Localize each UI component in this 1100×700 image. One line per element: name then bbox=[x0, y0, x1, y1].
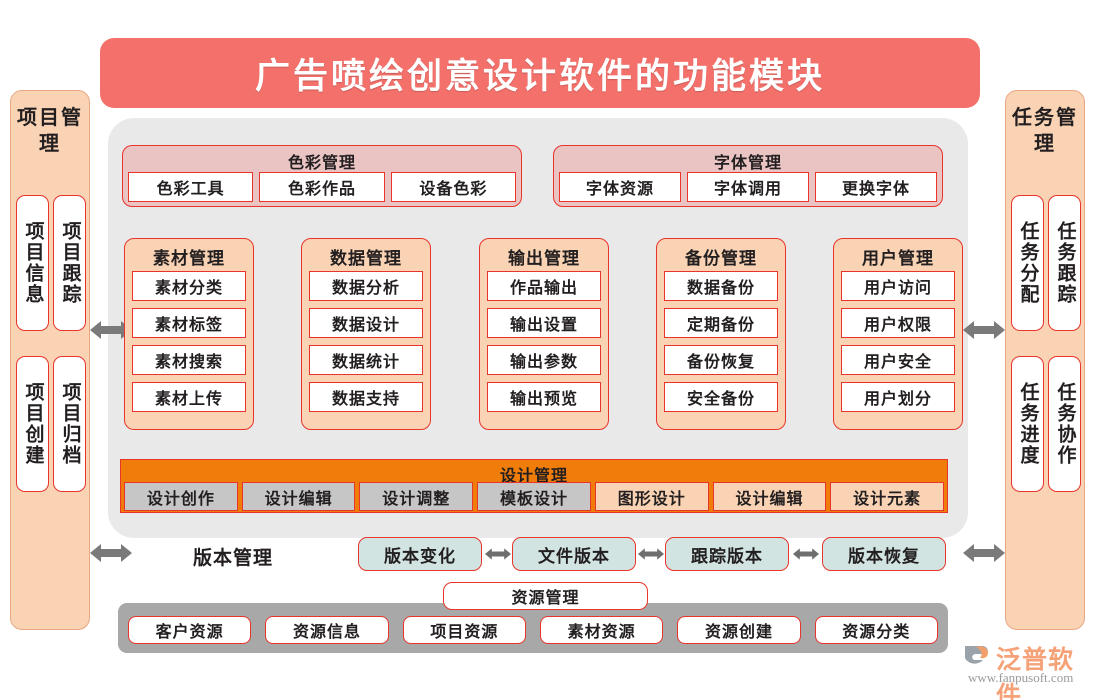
module-output-management: 输出管理 作品输出 输出设置 输出参数 输出预览 bbox=[479, 238, 609, 430]
panel-color-management: 色彩管理 色彩工具 色彩作品 设备色彩 bbox=[122, 145, 522, 207]
arrow-version-2-icon bbox=[638, 544, 664, 564]
item-material-tag[interactable]: 素材标签 bbox=[132, 308, 246, 338]
item-device-color[interactable]: 设备色彩 bbox=[391, 172, 516, 202]
panel-font-management-items: 字体资源 字体调用 更换字体 bbox=[559, 172, 937, 202]
module-material-management: 素材管理 素材分类 素材标签 素材搜索 素材上传 bbox=[124, 238, 254, 430]
panel-font-management-title: 字体管理 bbox=[554, 149, 942, 173]
resource-management-title: 资源管理 bbox=[443, 582, 648, 610]
item-user-security[interactable]: 用户安全 bbox=[841, 345, 955, 375]
item-data-analysis[interactable]: 数据分析 bbox=[309, 271, 423, 301]
sidebar-item-project-create[interactable]: 项目创建 bbox=[16, 356, 49, 492]
sidebar-item-project-archive[interactable]: 项目归档 bbox=[53, 356, 86, 492]
item-version-change[interactable]: 版本变化 bbox=[358, 537, 482, 571]
item-data-support[interactable]: 数据支持 bbox=[309, 382, 423, 412]
title-banner: 广告喷绘创意设计软件的功能模块 bbox=[100, 38, 980, 108]
item-periodic-backup[interactable]: 定期备份 bbox=[664, 308, 778, 338]
item-design-edit-2[interactable]: 设计编辑 bbox=[713, 482, 827, 511]
module-material-title: 素材管理 bbox=[125, 244, 253, 269]
item-user-permission[interactable]: 用户权限 bbox=[841, 308, 955, 338]
item-file-version[interactable]: 文件版本 bbox=[512, 537, 636, 571]
module-output-items: 作品输出 输出设置 输出参数 输出预览 bbox=[487, 271, 601, 412]
item-template-design[interactable]: 模板设计 bbox=[477, 482, 591, 511]
item-resource-create[interactable]: 资源创建 bbox=[677, 616, 800, 644]
version-management-label: 版本管理 bbox=[193, 543, 273, 570]
arrow-right-upper-icon bbox=[963, 318, 1005, 342]
arrow-left-lower-icon bbox=[90, 541, 132, 565]
item-output-params[interactable]: 输出参数 bbox=[487, 345, 601, 375]
item-font-resource[interactable]: 字体资源 bbox=[559, 172, 681, 202]
item-user-grouping[interactable]: 用户划分 bbox=[841, 382, 955, 412]
module-user-title: 用户管理 bbox=[834, 244, 962, 269]
module-data-management: 数据管理 数据分析 数据设计 数据统计 数据支持 bbox=[301, 238, 431, 430]
panel-color-management-title: 色彩管理 bbox=[123, 149, 521, 173]
item-material-search[interactable]: 素材搜索 bbox=[132, 345, 246, 375]
item-resource-category[interactable]: 资源分类 bbox=[815, 616, 938, 644]
item-user-access[interactable]: 用户访问 bbox=[841, 271, 955, 301]
module-data-title: 数据管理 bbox=[302, 244, 430, 269]
arrow-version-3-icon bbox=[793, 544, 819, 564]
sidebar-right-title: 任务管理 bbox=[1006, 105, 1084, 157]
brand-url: www.fanpusoft.com bbox=[968, 670, 1073, 686]
item-color-works[interactable]: 色彩作品 bbox=[259, 172, 384, 202]
module-material-items: 素材分类 素材标签 素材搜索 素材上传 bbox=[132, 271, 246, 412]
item-output-settings[interactable]: 输出设置 bbox=[487, 308, 601, 338]
item-project-resource[interactable]: 项目资源 bbox=[403, 616, 526, 644]
sidebar-item-task-tracking[interactable]: 任务跟踪 bbox=[1048, 195, 1081, 331]
diagram-root: 广告喷绘创意设计软件的功能模块 项目管理 项目信息 项目跟踪 项目创建 项目归档… bbox=[0, 0, 1100, 700]
item-font-invoke[interactable]: 字体调用 bbox=[687, 172, 809, 202]
item-material-category[interactable]: 素材分类 bbox=[132, 271, 246, 301]
item-data-design[interactable]: 数据设计 bbox=[309, 308, 423, 338]
sidebar-task-management: 任务管理 任务分配 任务跟踪 任务进度 任务协作 bbox=[1005, 90, 1085, 630]
item-output-preview[interactable]: 输出预览 bbox=[487, 382, 601, 412]
item-graphic-design[interactable]: 图形设计 bbox=[595, 482, 709, 511]
sidebar-item-task-collab[interactable]: 任务协作 bbox=[1048, 356, 1081, 492]
item-track-version[interactable]: 跟踪版本 bbox=[665, 537, 789, 571]
design-management-items: 设计创作 设计编辑 设计调整 模板设计 图形设计 设计编辑 设计元素 bbox=[124, 482, 944, 511]
sidebar-item-project-info[interactable]: 项目信息 bbox=[16, 195, 49, 331]
item-data-backup[interactable]: 数据备份 bbox=[664, 271, 778, 301]
item-work-output[interactable]: 作品输出 bbox=[487, 271, 601, 301]
module-output-title: 输出管理 bbox=[480, 244, 608, 269]
item-backup-restore[interactable]: 备份恢复 bbox=[664, 345, 778, 375]
module-user-items: 用户访问 用户权限 用户安全 用户划分 bbox=[841, 271, 955, 412]
item-material-upload[interactable]: 素材上传 bbox=[132, 382, 246, 412]
sidebar-project-management: 项目管理 项目信息 项目跟踪 项目创建 项目归档 bbox=[10, 90, 90, 630]
item-secure-backup[interactable]: 安全备份 bbox=[664, 382, 778, 412]
item-resource-info[interactable]: 资源信息 bbox=[265, 616, 388, 644]
item-version-restore[interactable]: 版本恢复 bbox=[822, 537, 946, 571]
item-data-stats[interactable]: 数据统计 bbox=[309, 345, 423, 375]
module-backup-items: 数据备份 定期备份 备份恢复 安全备份 bbox=[664, 271, 778, 412]
item-design-element[interactable]: 设计元素 bbox=[830, 482, 944, 511]
item-material-resource[interactable]: 素材资源 bbox=[540, 616, 663, 644]
module-backup-title: 备份管理 bbox=[657, 244, 785, 269]
module-backup-management: 备份管理 数据备份 定期备份 备份恢复 安全备份 bbox=[656, 238, 786, 430]
item-design-edit-1[interactable]: 设计编辑 bbox=[242, 482, 356, 511]
arrow-right-lower-icon bbox=[963, 541, 1005, 565]
item-client-resource[interactable]: 客户资源 bbox=[128, 616, 251, 644]
panel-font-management: 字体管理 字体资源 字体调用 更换字体 bbox=[553, 145, 943, 207]
design-management-bar: 设计管理 设计创作 设计编辑 设计调整 模板设计 图形设计 设计编辑 设计元素 bbox=[120, 459, 948, 513]
sidebar-left-title: 项目管理 bbox=[11, 105, 89, 157]
arrow-version-1-icon bbox=[485, 544, 511, 564]
resource-management-items: 客户资源 资源信息 项目资源 素材资源 资源创建 资源分类 bbox=[128, 616, 938, 644]
resource-management-bar: 客户资源 资源信息 项目资源 素材资源 资源创建 资源分类 bbox=[118, 603, 948, 653]
brand-logo: 泛普软件 www.fanpusoft.com bbox=[962, 640, 1098, 696]
item-font-replace[interactable]: 更换字体 bbox=[815, 172, 937, 202]
item-design-adjust[interactable]: 设计调整 bbox=[359, 482, 473, 511]
page-title: 广告喷绘创意设计软件的功能模块 bbox=[255, 48, 825, 99]
panel-color-management-items: 色彩工具 色彩作品 设备色彩 bbox=[128, 172, 516, 202]
sidebar-item-project-tracking[interactable]: 项目跟踪 bbox=[53, 195, 86, 331]
item-color-tools[interactable]: 色彩工具 bbox=[128, 172, 253, 202]
sidebar-item-task-assign[interactable]: 任务分配 bbox=[1011, 195, 1044, 331]
sidebar-item-task-progress[interactable]: 任务进度 bbox=[1011, 356, 1044, 492]
module-user-management: 用户管理 用户访问 用户权限 用户安全 用户划分 bbox=[833, 238, 963, 430]
module-data-items: 数据分析 数据设计 数据统计 数据支持 bbox=[309, 271, 423, 412]
item-design-create[interactable]: 设计创作 bbox=[124, 482, 238, 511]
